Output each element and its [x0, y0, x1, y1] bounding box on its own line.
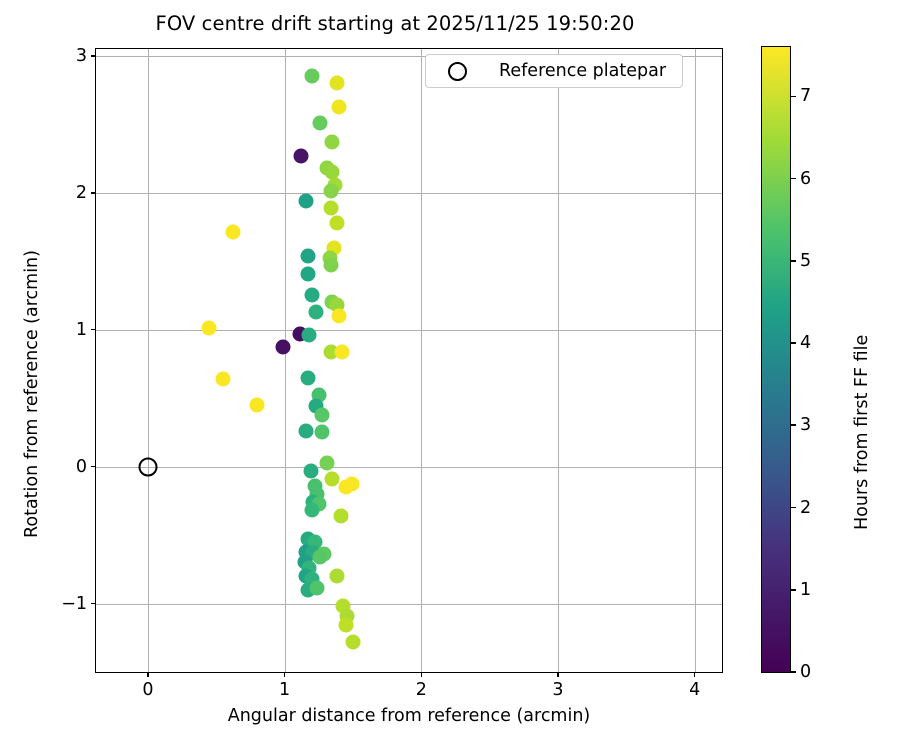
gridline-y — [96, 330, 722, 331]
scatter-point — [325, 135, 340, 150]
colorbar-tick-label: 3 — [800, 415, 811, 435]
scatter-point — [202, 321, 217, 336]
scatter-point — [304, 69, 319, 84]
gridline-x — [285, 49, 286, 672]
scatter-point — [324, 184, 339, 199]
scatter-point — [250, 398, 265, 413]
scatter-point — [310, 581, 325, 596]
scatter-point — [319, 455, 334, 470]
gridline-y — [96, 467, 722, 468]
colorbar-label: Hours from first FF file — [852, 335, 872, 530]
scatter-point — [314, 407, 329, 422]
scatter-point — [339, 480, 354, 495]
scatter-point — [339, 618, 354, 633]
tick-x — [147, 672, 149, 677]
tick-label-y: 3 — [76, 46, 87, 66]
colorbar-tick-label: 1 — [800, 580, 811, 600]
scatter-point — [225, 225, 240, 240]
tick-label-y: 1 — [76, 320, 87, 340]
colorbar-tick — [790, 342, 796, 344]
tick-y — [91, 466, 96, 468]
scatter-point — [304, 503, 319, 518]
gridline-x — [558, 49, 559, 672]
colorbar: 01234567 — [761, 46, 791, 673]
scatter-point — [299, 424, 314, 439]
colorbar-tick — [790, 96, 796, 98]
chart-title: FOV centre drift starting at 2025/11/25 … — [0, 12, 790, 35]
scatter-point — [302, 328, 317, 343]
scatter-point — [309, 304, 324, 319]
scatter-point — [299, 193, 314, 208]
tick-label-y: −1 — [61, 594, 87, 614]
scatter-point — [300, 266, 315, 281]
scatter-point — [314, 425, 329, 440]
scatter-point — [333, 508, 348, 523]
scatter-point — [300, 370, 315, 385]
scatter-point — [303, 463, 318, 478]
legend-label-reference-platepar: Reference platepar — [499, 61, 670, 81]
colorbar-tick — [790, 260, 796, 262]
colorbar-tick — [790, 589, 796, 591]
tick-x — [694, 672, 696, 677]
gridline-x — [421, 49, 422, 672]
scatter-point — [329, 215, 344, 230]
tick-x — [284, 672, 286, 677]
scatter-point — [216, 371, 231, 386]
tick-y — [91, 329, 96, 331]
colorbar-tick-label: 4 — [800, 333, 811, 353]
y-axis-label: Rotation from reference (arcmin) — [22, 250, 42, 538]
colorbar-tick-label: 5 — [800, 251, 811, 271]
tick-label-y: 2 — [76, 183, 87, 203]
figure: FOV centre drift starting at 2025/11/25 … — [0, 0, 900, 750]
scatter-point — [345, 634, 360, 649]
colorbar-tick — [790, 178, 796, 180]
tick-y — [91, 603, 96, 605]
tick-x — [557, 672, 559, 677]
tick-label-x: 4 — [689, 680, 700, 700]
scatter-point — [324, 200, 339, 215]
colorbar-tick-label: 6 — [800, 169, 811, 189]
colorbar-tick — [790, 424, 796, 426]
tick-x — [421, 672, 423, 677]
x-axis-label: Angular distance from reference (arcmin) — [95, 706, 723, 726]
scatter-point — [335, 344, 350, 359]
scatter-point — [329, 569, 344, 584]
scatter-point — [332, 309, 347, 324]
tick-label-x: 0 — [142, 680, 153, 700]
colorbar-tick-label: 2 — [800, 498, 811, 518]
colorbar-tick-label: 7 — [800, 86, 811, 106]
tick-label-x: 3 — [552, 680, 563, 700]
reference-platepar-marker — [138, 457, 157, 476]
plot-axes: 01234−10123 — [95, 48, 723, 673]
tick-label-x: 2 — [416, 680, 427, 700]
gridline-y — [96, 604, 722, 605]
colorbar-tick — [790, 671, 796, 673]
colorbar-tick — [790, 507, 796, 509]
scatter-point — [324, 258, 339, 273]
colorbar-tick-label: 0 — [800, 662, 811, 682]
legend[interactable]: Reference platepar — [425, 54, 683, 88]
gridline-x — [695, 49, 696, 672]
gridline-y — [96, 193, 722, 194]
tick-y — [91, 55, 96, 57]
scatter-point — [276, 340, 291, 355]
tick-label-x: 1 — [279, 680, 290, 700]
scatter-point — [325, 471, 340, 486]
scatter-point — [294, 148, 309, 163]
scatter-point — [332, 99, 347, 114]
scatter-point — [304, 288, 319, 303]
tick-y — [91, 192, 96, 194]
scatter-point — [313, 115, 328, 130]
gridline-x — [148, 49, 149, 672]
scatter-point — [329, 76, 344, 91]
tick-label-y: 0 — [76, 457, 87, 477]
legend-marker-reference-platepar — [448, 62, 467, 81]
scatter-point — [300, 248, 315, 263]
